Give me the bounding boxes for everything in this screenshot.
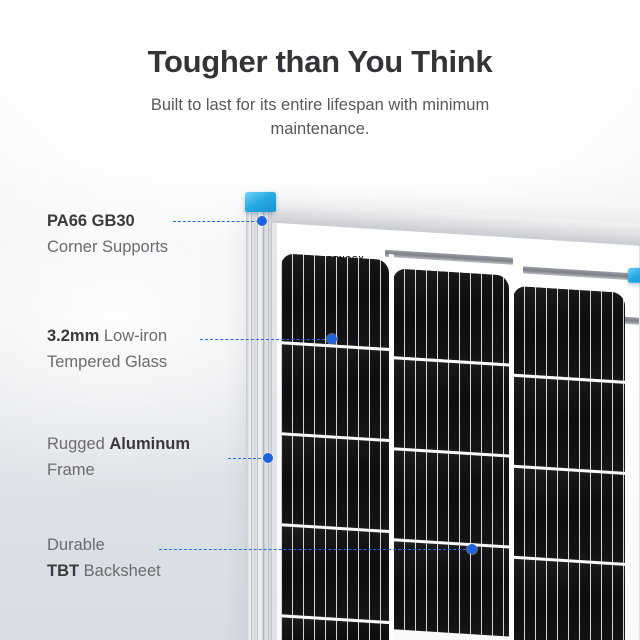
header: Tougher than You Think Built to last for… [0,0,640,142]
callout-regular-text: Corner Supports [47,238,168,256]
callout-line-1: Rugged Aluminum [47,432,190,456]
callout-bold-text: 3.2mm [47,327,99,345]
page-title: Tougher than You Think [0,0,640,80]
callout-regular-text: Durable [47,536,105,554]
callout-anchor-dot [263,453,273,463]
callout-line-1: 3.2mm Low-iron [47,324,167,348]
callout-regular-text: Tempered Glass [47,353,167,371]
callout-anchor-dot [257,216,267,226]
callout-line-2: Corner Supports [47,235,168,259]
callout-leader-line [173,221,259,222]
callout-leader-line [228,458,266,459]
infographic-canvas: Tougher than You Think Built to last for… [0,0,640,640]
callout-bold-text: PA66 GB30 [47,212,135,230]
callout-regular-text: Frame [47,461,95,479]
callout-regular-text: Low-iron [99,327,167,345]
callout-anchor-dot [467,544,477,554]
callout-anchor-dot [327,334,337,344]
callout-line-2: Frame [47,458,95,482]
callout-line-2: TBT Backsheet [47,559,161,583]
callout-bold-text: TBT [47,562,79,580]
callout-line-2: Tempered Glass [47,350,167,374]
callout-regular-text: Rugged [47,435,109,453]
page-subtitle: Built to last for its entire lifespan wi… [105,94,535,142]
callout-line-1: PA66 GB30 [47,209,135,233]
callout-bold-text: Aluminum [109,435,190,453]
callout-leader-line [159,549,471,550]
callout-leader-line [200,339,330,340]
callout-regular-text: Backsheet [79,562,161,580]
callout-line-1: Durable [47,533,105,557]
